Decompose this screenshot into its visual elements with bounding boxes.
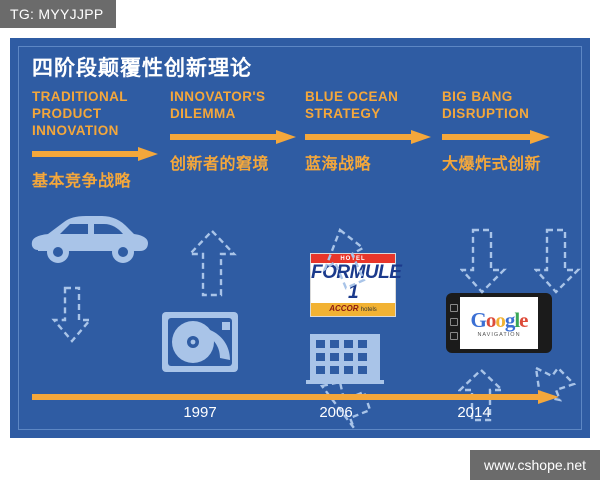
column-arrow-icon [170, 130, 310, 144]
formule1-brand-sub: hotels [361, 307, 377, 313]
column-english-line2: DILEMMA [170, 105, 310, 122]
dashed-arrow-down-icon [460, 228, 508, 299]
column-english-line3: INNOVATION [32, 122, 172, 139]
formule1-logo-bottom: ACCOR hotels [311, 303, 395, 316]
column-english-label: BLUE OCEAN STRATEGY [305, 88, 445, 122]
dashed-arrow-down-icon [50, 286, 94, 349]
column-big-bang-disruption: BIG BANG DISRUPTION 大爆炸式创新 [442, 88, 582, 174]
phone-screen: Google NAVIGATION [460, 297, 538, 349]
column-english-line1: BLUE OCEAN [305, 88, 445, 105]
column-arrow-icon [305, 130, 445, 144]
page-title: 四阶段颠覆性创新理论 [32, 52, 252, 82]
column-english-label: INNOVATOR'S DILEMMA [170, 88, 310, 122]
timeline-arrow-icon [32, 390, 560, 402]
timeline-year-2006: 2006 [306, 404, 366, 421]
column-chinese-label: 蓝海战略 [305, 150, 445, 174]
column-blue-ocean-strategy: BLUE OCEAN STRATEGY 蓝海战略 [305, 88, 445, 174]
phone-left-bezel [448, 296, 460, 350]
dashed-arrow-up-icon [186, 228, 238, 303]
presentation-slide: 四阶段颠覆性创新理论 TRADITIONAL PRODUCT INNOVATIO… [10, 38, 590, 438]
column-arrow-icon [32, 147, 172, 161]
column-english-line2: DISRUPTION [442, 105, 582, 122]
formule1-brand: ACCOR [329, 304, 358, 313]
column-english-line1: INNOVATOR'S [170, 88, 310, 105]
column-chinese-label: 大爆炸式创新 [442, 150, 582, 174]
column-english-line1: TRADITIONAL [32, 88, 172, 105]
tg-badge: TG: MYYJJPP [0, 0, 116, 28]
column-chinese-label: 创新者的窘境 [170, 150, 310, 174]
smartphone-icon: Google NAVIGATION [446, 293, 552, 353]
timeline-year-1997: 1997 [170, 404, 230, 421]
watermark: www.cshope.net [470, 450, 600, 480]
hard-disk-icon [160, 308, 240, 381]
column-arrow-icon [442, 130, 582, 144]
column-english-label: BIG BANG DISRUPTION [442, 88, 582, 122]
column-english-label: TRADITIONAL PRODUCT INNOVATION [32, 88, 172, 139]
column-traditional-product-innovation: TRADITIONAL PRODUCT INNOVATION 基本竞争战略 [32, 88, 172, 191]
dashed-arrow-up-icon [318, 228, 368, 295]
column-innovators-dilemma: INNOVATOR'S DILEMMA 创新者的窘境 [170, 88, 310, 174]
column-english-line2: STRATEGY [305, 105, 445, 122]
google-logo-sub: NAVIGATION [477, 332, 520, 338]
car-icon [28, 208, 153, 273]
column-english-line1: BIG BANG [442, 88, 582, 105]
column-chinese-label: 基本竞争战略 [32, 167, 172, 191]
google-logo: Google [470, 308, 527, 333]
column-english-line2: PRODUCT [32, 105, 172, 122]
timeline-year-2014: 2014 [444, 404, 504, 421]
dashed-arrow-down-icon [534, 228, 582, 299]
slide-stage: TG: MYYJJPP 四阶段颠覆性创新理论 TRADITIONAL PRODU… [0, 0, 600, 480]
